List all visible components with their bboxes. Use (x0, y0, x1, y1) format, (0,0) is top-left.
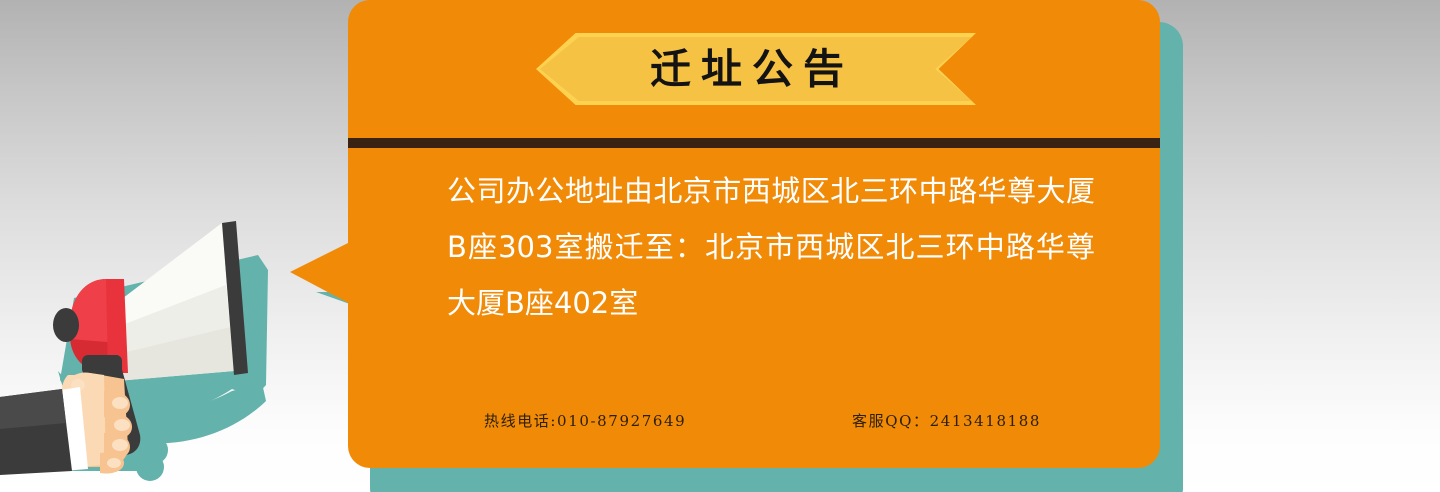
suit-sleeve (0, 389, 72, 475)
announcement-card: 迁址公告 公司办公地址由北京市西城区北三环中路华尊大厦B座303室搬迁至：北京市… (348, 0, 1160, 468)
customer-service-qq-text: 客服QQ：2413418188 (852, 410, 1041, 431)
megaphone-illustration (0, 175, 300, 492)
megaphone-cone (110, 221, 248, 381)
footer-contacts: 热线电话:010-87927649 客服QQ：2413418188 (348, 410, 1160, 438)
announcement-banner-image: 迁址公告 公司办公地址由北京市西城区北三环中路华尊大厦B座303室搬迁至：北京市… (0, 0, 1440, 492)
megaphone-knob (53, 308, 79, 342)
page-title: 迁址公告 (536, 33, 976, 105)
announcement-body: 公司办公地址由北京市西城区北三环中路华尊大厦B座303室搬迁至：北京市西城区北三… (447, 163, 1095, 331)
hotline-text: 热线电话:010-87927649 (484, 410, 686, 431)
header-divider (348, 138, 1160, 148)
title-banner: 迁址公告 (536, 33, 976, 105)
